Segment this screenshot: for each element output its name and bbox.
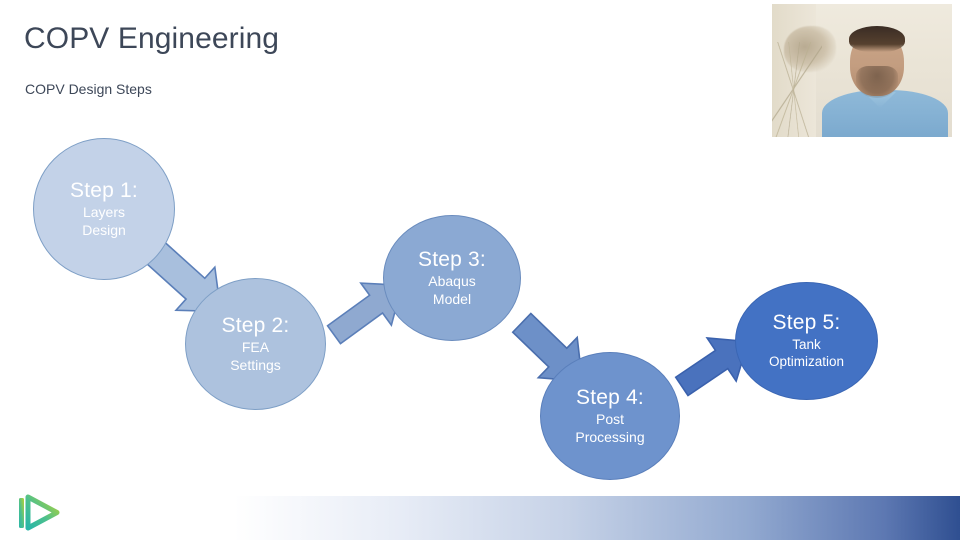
step-node-3-desc-line2: Model [428,291,475,309]
step-node-1-desc-line1: Layers [82,204,126,222]
step-node-4-title: Step 4: [576,386,644,410]
step-node-4-desc-line2: Processing [575,429,644,447]
presentation-slide: COPV Engineering COPV Design Steps [0,0,960,540]
step-node-5-desc-line1: Tank [769,337,844,354]
step-node-3[interactable]: Step 3: Abaqus Model [383,215,521,341]
step-node-5[interactable]: Step 5: Tank Optimization [735,282,878,400]
step-node-2[interactable]: Step 2: FEA Settings [185,278,326,410]
step-node-4-desc-line1: Post [575,411,644,429]
webcam-presenter-hair [849,26,905,52]
step-node-1-desc-line2: Design [82,222,126,240]
bottom-gradient-band [204,496,960,540]
step-node-1[interactable]: Step 1: Layers Design [33,138,175,280]
step-node-3-title: Step 3: [418,248,486,272]
step-node-4[interactable]: Step 4: Post Processing [540,352,680,480]
step-node-3-desc-line1: Abaqus [428,273,475,291]
presenter-webcam-overlay[interactable] [772,4,952,137]
step-node-2-desc-line2: Settings [230,357,281,375]
play-triangle-logo-icon [14,492,62,534]
step-node-2-title: Step 2: [222,314,290,338]
step-node-5-title: Step 5: [773,311,841,335]
step-node-1-title: Step 1: [70,179,138,203]
webcam-plant [772,42,822,137]
step-node-5-desc-line2: Optimization [769,354,844,371]
webcam-presenter-beard [856,66,898,98]
step-node-2-desc-line1: FEA [230,339,281,357]
